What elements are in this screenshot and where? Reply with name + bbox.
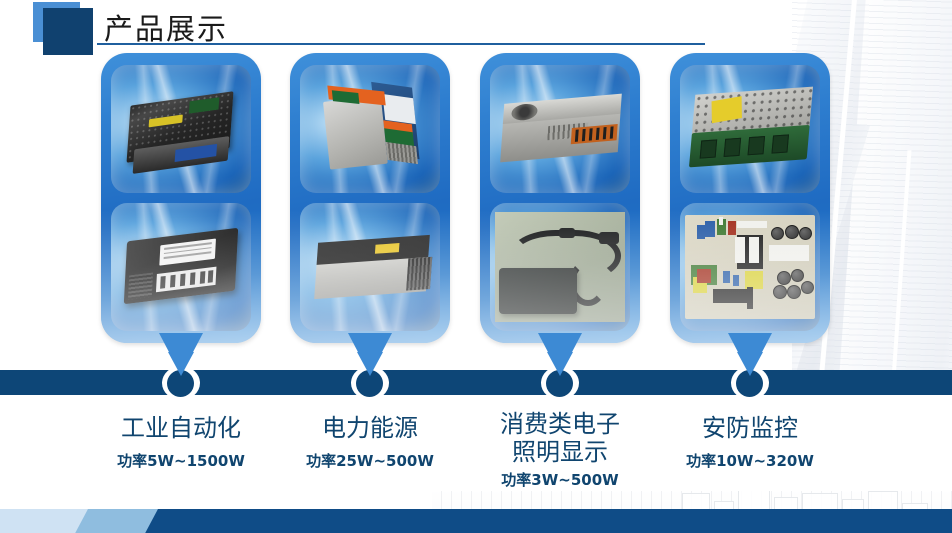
header-rule — [97, 43, 705, 45]
caption-electric-power-energy: 电力能源 功率25W~500W — [290, 414, 450, 471]
divider-band — [0, 370, 952, 395]
footer-bar-light — [0, 509, 88, 533]
caption-title: 工业自动化 — [101, 414, 261, 442]
caption-power: 功率3W~500W — [478, 469, 642, 490]
product-card-electric-power-energy[interactable] — [290, 53, 450, 343]
product-image-perforated-case-power-supply — [680, 65, 820, 193]
card-panel — [480, 53, 640, 343]
caption-power: 功率10W~320W — [670, 450, 830, 471]
product-image-din-rail-power-supply — [300, 65, 440, 193]
product-image-black-enclosed-power-supply — [111, 203, 251, 331]
card-panel — [670, 53, 830, 343]
caption-industrial-automation: 工业自动化 功率5W~1500W — [101, 414, 261, 471]
product-image-silver-black-power-supply — [300, 203, 440, 331]
product-image-open-frame-pcb-power-board — [680, 203, 820, 331]
caption-title: 安防监控 — [670, 414, 830, 442]
product-card-security-surveillance[interactable] — [670, 53, 830, 343]
footer-bar-navy — [87, 509, 952, 533]
caption-power: 功率25W~500W — [290, 450, 450, 471]
caption-title-line2: 照明显示 — [478, 438, 642, 466]
card-panel — [101, 53, 261, 343]
caption-security-surveillance: 安防监控 功率10W~320W — [670, 414, 830, 471]
product-image-laptop-ac-adapter — [490, 203, 630, 331]
product-image-fan-cooled-power-supply — [490, 65, 630, 193]
caption-title: 消费类电子 — [478, 410, 642, 438]
product-image-mesh-case-power-supply — [111, 65, 251, 193]
caption-power: 功率5W~1500W — [101, 450, 261, 471]
page-title: 产品展示 — [104, 6, 228, 48]
marker-pin-2 — [357, 352, 383, 376]
marker-pin-4 — [737, 352, 763, 376]
marker-pin-3 — [547, 352, 573, 376]
caption-title: 电力能源 — [290, 414, 450, 442]
caption-consumer-electronics-lighting: 消费类电子 照明显示 功率3W~500W — [478, 410, 642, 490]
card-panel — [290, 53, 450, 343]
product-card-industrial-automation[interactable] — [101, 53, 261, 343]
slide-canvas: 产品展示 — [0, 0, 952, 533]
footer — [0, 491, 952, 533]
product-card-consumer-electronics-lighting[interactable] — [480, 53, 640, 343]
header-square-dark — [43, 8, 93, 55]
marker-pin-1 — [168, 352, 194, 376]
